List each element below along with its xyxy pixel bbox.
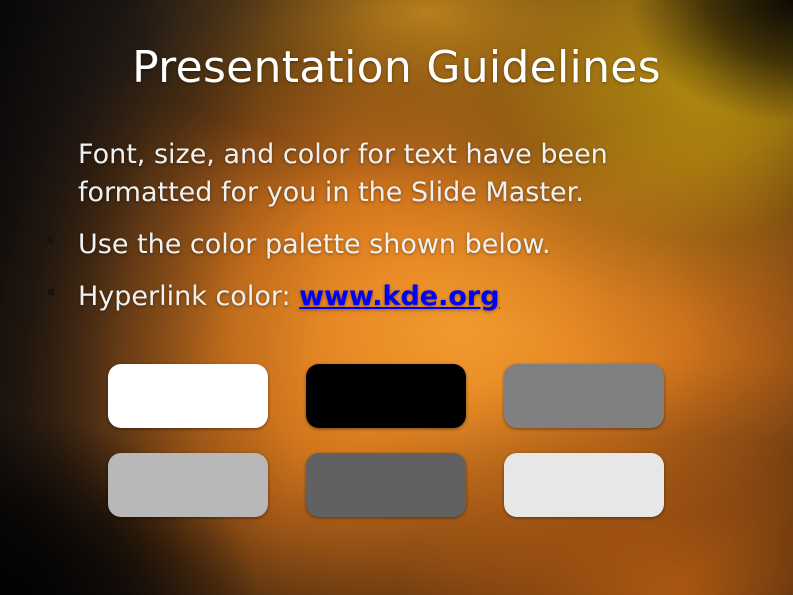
bullet-item-3: Hyperlink color: www.kde.org — [44, 278, 733, 316]
bullet-item-2: Use the color palette shown below. — [44, 226, 733, 264]
bullet-list: Font, size, and color for text have been… — [44, 136, 733, 330]
bullet-item-1-text: Font, size, and color for text have been… — [78, 139, 608, 208]
square-bullet-icon — [48, 289, 54, 295]
swatch-black[interactable] — [306, 364, 466, 428]
swatch-near-white[interactable] — [504, 453, 664, 517]
swatch-white[interactable] — [108, 364, 268, 428]
swatch-medium-gray[interactable] — [504, 364, 664, 428]
square-bullet-icon — [48, 237, 54, 243]
bullet-item-2-text: Use the color palette shown below. — [78, 229, 551, 260]
bullet-item-3-text: Hyperlink color: — [78, 281, 299, 312]
swatch-dark-gray[interactable] — [306, 453, 466, 517]
hyperlink-kde-org[interactable]: www.kde.org — [299, 281, 499, 312]
bullet-item-1: Font, size, and color for text have been… — [44, 136, 733, 212]
swatch-light-gray[interactable] — [108, 453, 268, 517]
slide-title: Presentation Guidelines — [0, 44, 793, 92]
square-bullet-icon — [48, 147, 54, 153]
slide-content: Presentation Guidelines Font, size, and … — [0, 0, 793, 595]
presentation-slide: Presentation Guidelines Font, size, and … — [0, 0, 793, 595]
color-palette — [108, 364, 664, 517]
